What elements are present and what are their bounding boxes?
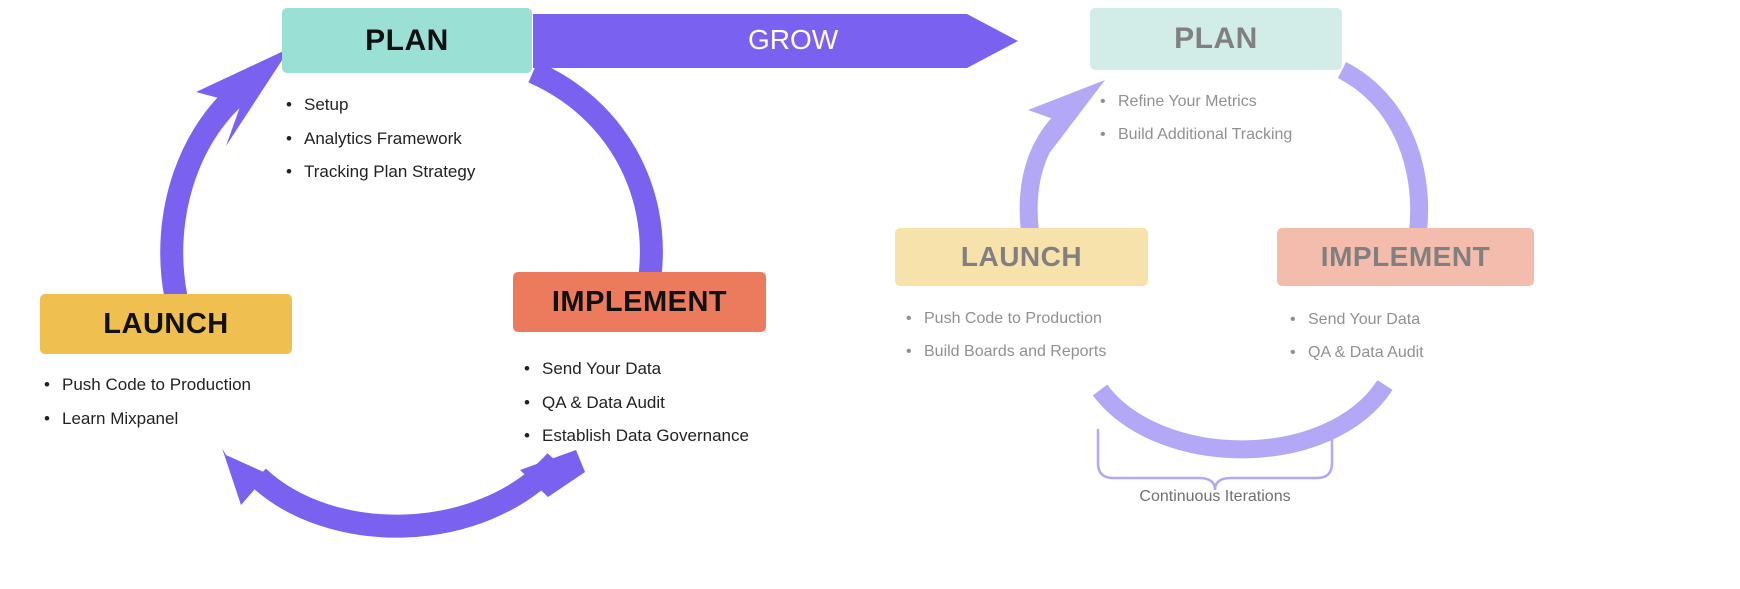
list-item: • Send Your Data [1290,303,1560,336]
list-item: • QA & Data Audit [524,386,804,420]
bullet-dot-icon: • [1100,85,1118,118]
bullet-dot-icon: • [524,386,542,420]
left-launch-title: LAUNCH [103,308,228,341]
left-implement-bullets: • Send Your Data • QA & Data Audit • Est… [524,352,804,453]
right-launch-header[interactable]: LAUNCH [895,228,1148,286]
arrow-implement-to-launch-left [222,448,585,526]
arrow-launch-to-plan-left [172,48,290,297]
bullet-dot-icon: • [286,122,304,156]
left-implement-title: IMPLEMENT [552,286,727,319]
right-plan-bullets: • Refine Your Metrics • Build Additional… [1100,85,1370,151]
bullet-dot-icon: • [1290,303,1308,336]
right-launch-title: LAUNCH [961,241,1082,273]
list-item: • Learn Mixpanel [44,402,304,436]
list-item: • Setup [286,88,546,122]
list-item: • Analytics Framework [286,122,546,156]
right-plan-title: PLAN [1174,22,1258,56]
bullet-dot-icon: • [524,419,542,453]
right-implement-header[interactable]: IMPLEMENT [1277,228,1534,286]
right-implement-title: IMPLEMENT [1321,241,1490,273]
bullet-dot-icon: • [1100,118,1118,151]
left-plan-header[interactable]: PLAN [282,8,532,73]
list-item: • Tracking Plan Strategy [286,155,546,189]
right-implement-bullets: • Send Your Data • QA & Data Audit [1290,303,1560,369]
list-item: • Send Your Data [524,352,804,386]
list-item: • Build Boards and Reports [906,335,1176,368]
list-item: • Build Additional Tracking [1100,118,1370,151]
list-item: • QA & Data Audit [1290,336,1560,369]
continuous-iterations-label: Continuous Iterations [1060,488,1370,506]
left-launch-header[interactable]: LAUNCH [40,294,292,354]
left-plan-title: PLAN [365,24,449,58]
list-item: • Establish Data Governance [524,419,804,453]
bullet-dot-icon: • [286,155,304,189]
bullet-dot-icon: • [1290,336,1308,369]
right-launch-bullets: • Push Code to Production • Build Boards… [906,302,1176,368]
arrow-implement-to-launch-right [1100,385,1385,449]
bullet-dot-icon: • [906,335,924,368]
list-item: • Refine Your Metrics [1100,85,1370,118]
arrow-plan-to-implement-left [533,72,651,276]
bullet-dot-icon: • [44,368,62,402]
list-item: • Push Code to Production [44,368,304,402]
bullet-dot-icon: • [524,352,542,386]
bullet-dot-icon: • [906,302,924,335]
bullet-dot-icon: • [286,88,304,122]
right-plan-header[interactable]: PLAN [1090,8,1342,70]
grow-arrow-label: GROW [748,24,838,56]
left-launch-bullets: • Push Code to Production • Learn Mixpan… [44,368,304,435]
diagram-canvas: PLAN • Setup • Analytics Framework • Tra… [0,0,1740,589]
arrow-launch-to-plan-right [1028,80,1105,232]
left-plan-bullets: • Setup • Analytics Framework • Tracking… [286,88,546,189]
left-implement-header[interactable]: IMPLEMENT [513,272,766,332]
list-item: • Push Code to Production [906,302,1176,335]
bullet-dot-icon: • [44,402,62,436]
